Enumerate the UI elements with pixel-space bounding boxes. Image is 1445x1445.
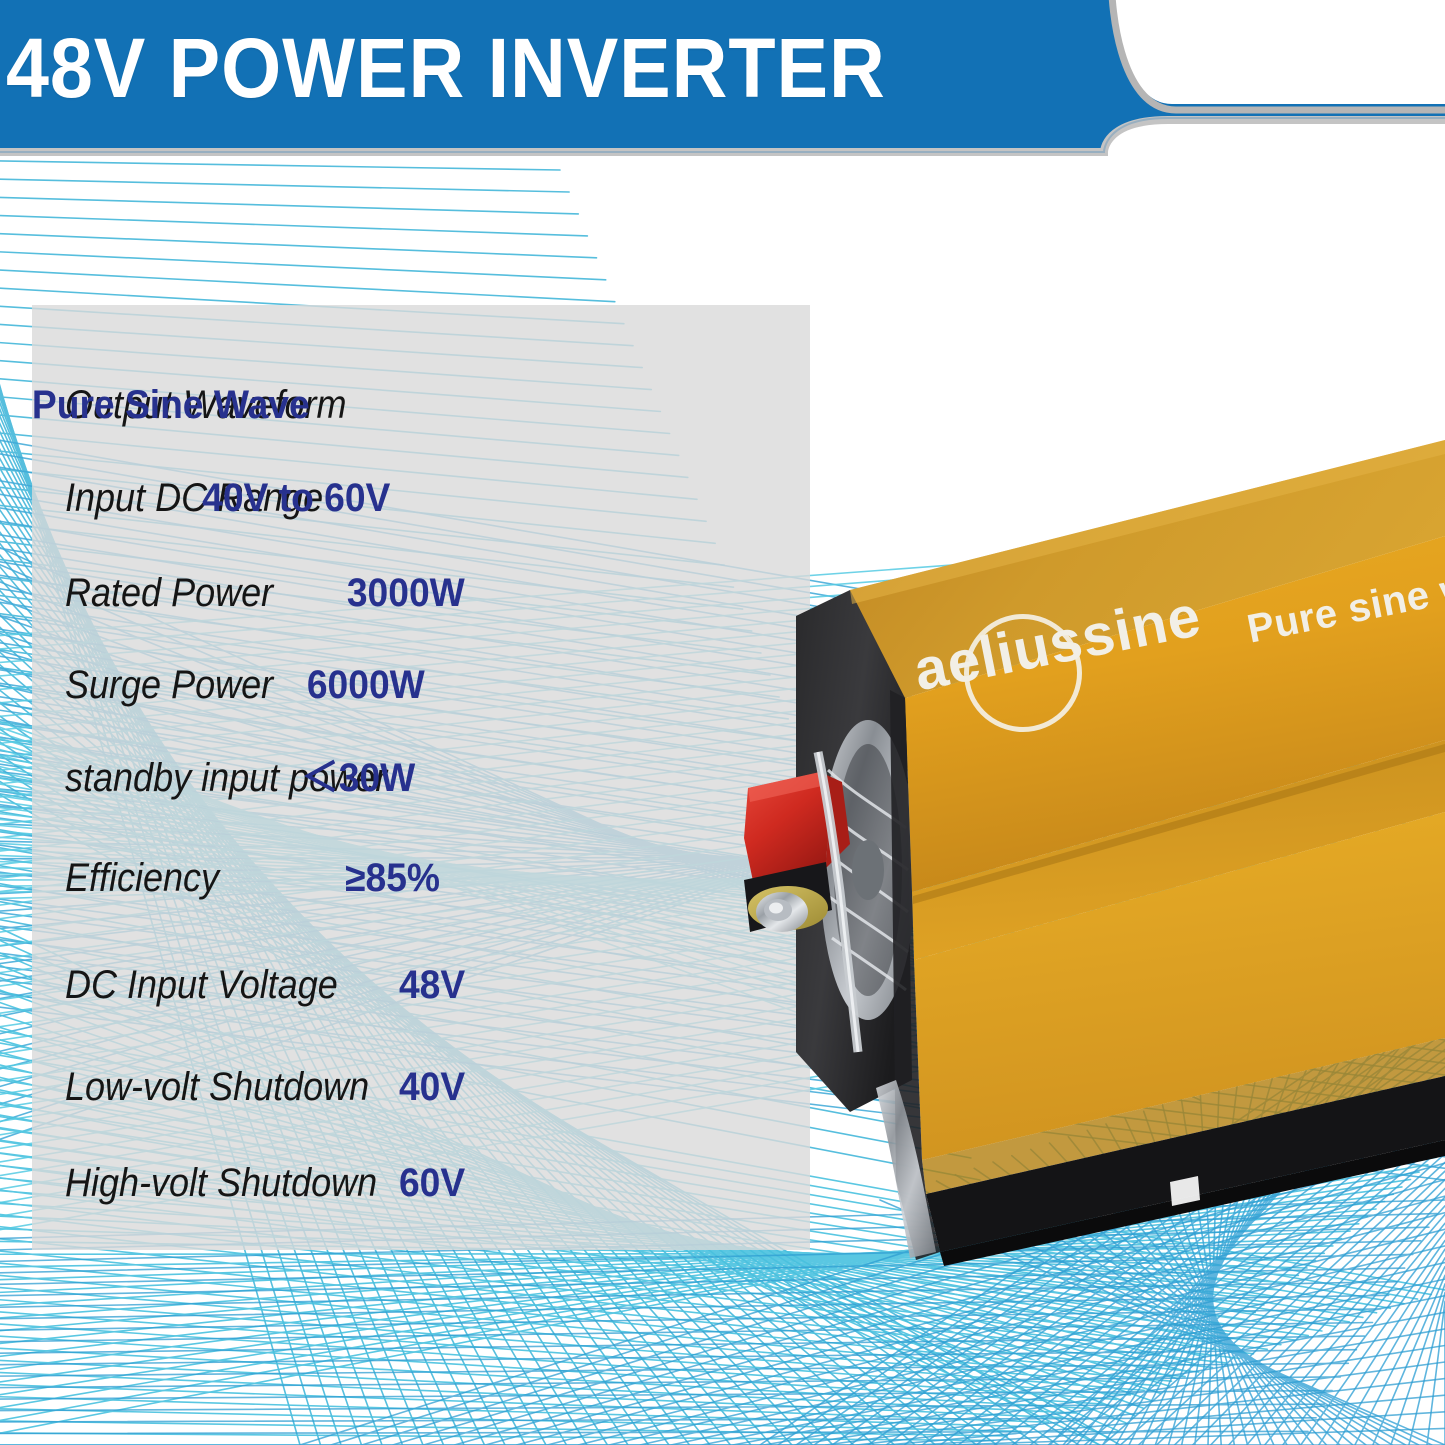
spec-label: Rated Power [65,563,273,623]
spec-row: Low-volt Shutdown40V [32,1057,810,1117]
spec-row: DC Input Voltage48V [32,955,810,1015]
spec-value: ≥85% [345,848,440,908]
spec-value: 3000W [347,563,465,623]
banner-title: 48V POWER INVERTER [6,26,886,110]
spec-row: Rated Power3000W [32,563,810,623]
product-image: aeliussine Pure sine w [700,440,1445,1280]
spec-label: DC Input Voltage [65,955,338,1015]
spec-row: Efficiency≥85% [32,848,810,908]
header-banner: 48V POWER INVERTER [0,0,1445,185]
spec-table: Output WaveformPure Sine WaveInput DC Ra… [32,305,810,1250]
spec-value: 40V [399,1057,465,1117]
spec-value: 40V to 60V [202,468,390,528]
spec-value: 6000W [307,655,425,715]
spec-row: Input DC Range40V to 60V [32,468,810,528]
spec-row: High-volt Shutdown60V [32,1153,810,1213]
spec-value: Pure Sine Wave [32,375,310,435]
spec-label: High-volt Shutdown [65,1153,377,1213]
spec-label: Low-volt Shutdown [65,1057,369,1117]
spec-row: standby input power＜30W [32,748,810,808]
product-infographic: aeliussine Pure sine w Output WaveformPu… [0,0,1445,1445]
spec-row: Output WaveformPure Sine Wave [32,375,810,435]
spec-label: Efficiency [65,848,219,908]
spec-label: Surge Power [65,655,273,715]
spec-row: Surge Power6000W [32,655,810,715]
spec-value: 60V [399,1153,465,1213]
spec-value: ＜30W [301,748,415,808]
spec-value: 48V [399,955,465,1015]
